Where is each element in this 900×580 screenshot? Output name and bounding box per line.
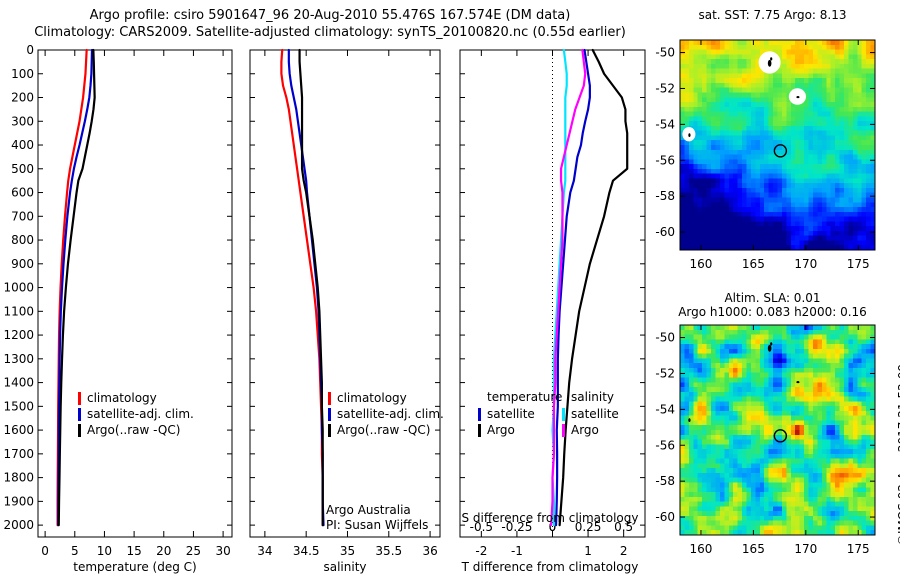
legend-swatch-satellite-adj xyxy=(328,408,331,421)
svg-text:170: 170 xyxy=(794,257,817,271)
legend-swatch-climatology xyxy=(328,392,331,405)
svg-text:1800: 1800 xyxy=(3,471,34,485)
svg-text:-52: -52 xyxy=(655,81,675,95)
temperature-legend: climatology satellite-adj. clim. Argo(..… xyxy=(78,390,194,438)
svg-text:-50: -50 xyxy=(655,46,675,60)
svg-text:165: 165 xyxy=(742,542,765,556)
svg-text:160: 160 xyxy=(690,542,713,556)
sla-map-plot: 160165170175-50-52-54-56-58-60 xyxy=(655,285,900,575)
svg-text:-60: -60 xyxy=(655,225,675,239)
svg-text:1000: 1000 xyxy=(3,281,34,295)
legend-label-salinity-satellite: satellite xyxy=(571,407,619,421)
legend-swatch-temperature-satellite xyxy=(478,408,481,421)
temperature-xaxis-label: temperature (deg C) xyxy=(38,560,232,574)
attribution-line2: PI: Susan Wijffels xyxy=(326,518,428,532)
difference-xaxis-label-bottom: T difference from climatology xyxy=(455,560,645,574)
svg-text:300: 300 xyxy=(11,114,34,128)
svg-text:0: 0 xyxy=(41,544,49,558)
svg-text:-50: -50 xyxy=(655,331,675,345)
svg-text:1400: 1400 xyxy=(3,376,34,390)
svg-text:600: 600 xyxy=(11,186,34,200)
svg-text:25: 25 xyxy=(186,544,201,558)
svg-text:10: 10 xyxy=(97,544,112,558)
svg-text:30: 30 xyxy=(215,544,230,558)
temperature-panel: 0100200300400500600700800900100011001200… xyxy=(0,0,240,560)
svg-text:1100: 1100 xyxy=(3,304,34,318)
svg-text:1600: 1600 xyxy=(3,423,34,437)
difference-plot: -2-1012-0.5-0.2500.250.5 xyxy=(455,0,650,560)
svg-text:2: 2 xyxy=(620,544,628,558)
svg-text:500: 500 xyxy=(11,162,34,176)
salinity-xaxis-label: salinity xyxy=(245,560,445,574)
difference-panel: -2-1012-0.5-0.2500.250.5 xyxy=(455,0,650,560)
svg-text:-58: -58 xyxy=(655,189,675,203)
legend-swatch-argo xyxy=(328,424,331,437)
svg-text:100: 100 xyxy=(11,67,34,81)
svg-text:36: 36 xyxy=(422,544,437,558)
legend-label-argo: Argo(..raw -QC) xyxy=(87,423,180,437)
sla-map: 160165170175-50-52-54-56-58-60 xyxy=(655,285,900,575)
svg-text:-58: -58 xyxy=(655,474,675,488)
difference-xaxis-label-top: S difference from climatology xyxy=(455,511,645,525)
svg-text:1200: 1200 xyxy=(3,328,34,342)
salinity-legend: climatology satellite-adj. clim. Argo(..… xyxy=(328,390,444,438)
svg-text:165: 165 xyxy=(742,257,765,271)
svg-text:20: 20 xyxy=(156,544,171,558)
svg-text:1500: 1500 xyxy=(3,399,34,413)
svg-text:900: 900 xyxy=(11,257,34,271)
svg-text:35: 35 xyxy=(340,544,355,558)
svg-text:800: 800 xyxy=(11,233,34,247)
svg-text:-1: -1 xyxy=(511,544,523,558)
salinity-plot: 3434.53535.536 xyxy=(245,0,450,560)
legend-swatch-argo xyxy=(78,424,81,437)
svg-text:-54: -54 xyxy=(655,117,675,131)
legend-label-argo: Argo(..raw -QC) xyxy=(337,423,430,437)
svg-text:-56: -56 xyxy=(655,438,675,452)
sst-map-plot: 160165170175-50-52-54-56-58-60 xyxy=(655,0,900,290)
svg-text:1900: 1900 xyxy=(3,494,34,508)
legend-label-climatology: climatology xyxy=(87,391,157,405)
svg-text:34: 34 xyxy=(257,544,272,558)
svg-text:200: 200 xyxy=(11,91,34,105)
svg-text:175: 175 xyxy=(847,257,870,271)
salinity-panel: 3434.53535.536 xyxy=(245,0,450,560)
svg-text:35.5: 35.5 xyxy=(375,544,402,558)
legend-swatch-climatology xyxy=(78,392,81,405)
svg-text:15: 15 xyxy=(126,544,141,558)
sst-map: 160165170175-50-52-54-56-58-60 xyxy=(655,0,900,290)
legend-heading-temperature: temperature xyxy=(478,390,562,406)
difference-legend-column-temperature: temperature satellite Argo xyxy=(478,390,562,438)
legend-label-satellite-adj: satellite-adj. clim. xyxy=(87,407,194,421)
legend-label-temperature-argo: Argo xyxy=(487,423,515,437)
svg-text:5: 5 xyxy=(71,544,79,558)
legend-label-salinity-argo: Argo xyxy=(571,423,599,437)
svg-text:160: 160 xyxy=(690,257,713,271)
legend-heading-salinity: salinity xyxy=(562,390,642,406)
difference-legend: temperature satellite Argo salinity sate… xyxy=(478,390,642,438)
svg-text:-54: -54 xyxy=(655,402,675,416)
svg-text:1700: 1700 xyxy=(3,447,34,461)
svg-text:1300: 1300 xyxy=(3,352,34,366)
svg-text:0: 0 xyxy=(26,43,34,57)
svg-text:170: 170 xyxy=(794,542,817,556)
legend-swatch-salinity-argo xyxy=(562,424,565,437)
svg-text:-2: -2 xyxy=(475,544,487,558)
temperature-plot: 0100200300400500600700800900100011001200… xyxy=(0,0,240,560)
legend-label-climatology: climatology xyxy=(337,391,407,405)
legend-swatch-salinity-satellite xyxy=(562,408,565,421)
imos-credit: ©IMOS 02-Aug-2017 21:52:09 xyxy=(896,364,900,546)
legend-swatch-temperature-argo xyxy=(478,424,481,437)
svg-text:1: 1 xyxy=(584,544,592,558)
legend-label-temperature-satellite: satellite xyxy=(487,407,535,421)
difference-legend-column-salinity: salinity satellite Argo xyxy=(562,390,642,438)
legend-swatch-satellite-adj xyxy=(78,408,81,421)
svg-text:34.5: 34.5 xyxy=(293,544,320,558)
svg-text:175: 175 xyxy=(847,542,870,556)
svg-text:-52: -52 xyxy=(655,366,675,380)
legend-label-satellite-adj: satellite-adj. clim. xyxy=(337,407,444,421)
svg-text:-56: -56 xyxy=(655,153,675,167)
svg-text:-60: -60 xyxy=(655,510,675,524)
svg-text:700: 700 xyxy=(11,209,34,223)
svg-text:400: 400 xyxy=(11,138,34,152)
svg-text:2000: 2000 xyxy=(3,518,34,532)
attribution-line1: Argo Australia xyxy=(326,503,411,517)
